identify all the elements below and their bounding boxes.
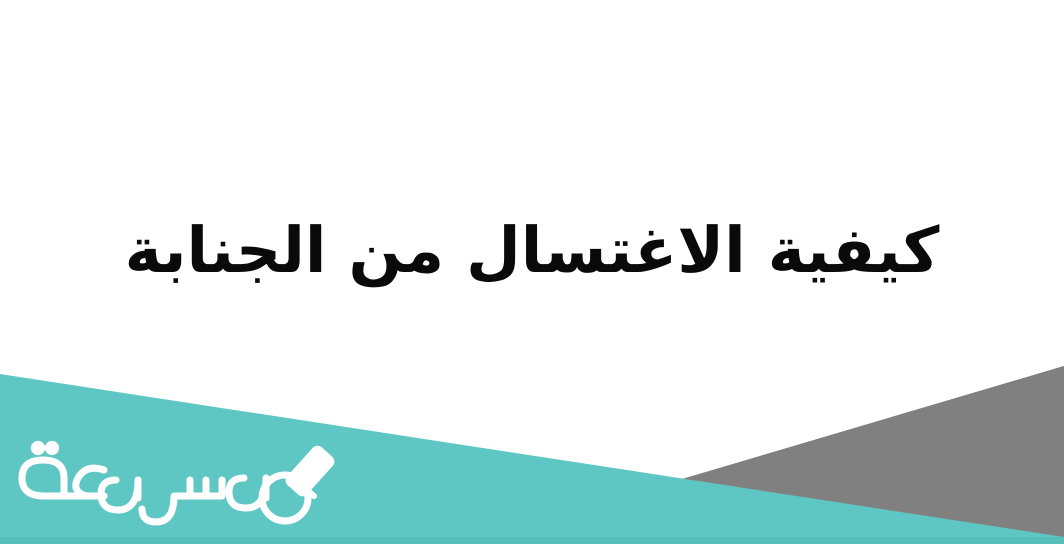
gray-diagonal-triangle (672, 366, 1064, 544)
teal-bottom-strip (0, 537, 1064, 544)
brand-name-text: موسوعة (12, 436, 354, 536)
title-container: كيفية الاغتسال من الجنابة (0, 196, 1064, 306)
slide-canvas: كيفية الاغتسال من الجنابة (0, 0, 1064, 544)
gray-diagonal-triangle-body (672, 366, 1064, 544)
page-title: كيفية الاغتسال من الجنابة (125, 214, 940, 288)
brand-logo[interactable]: موسوعة (8, 436, 354, 536)
